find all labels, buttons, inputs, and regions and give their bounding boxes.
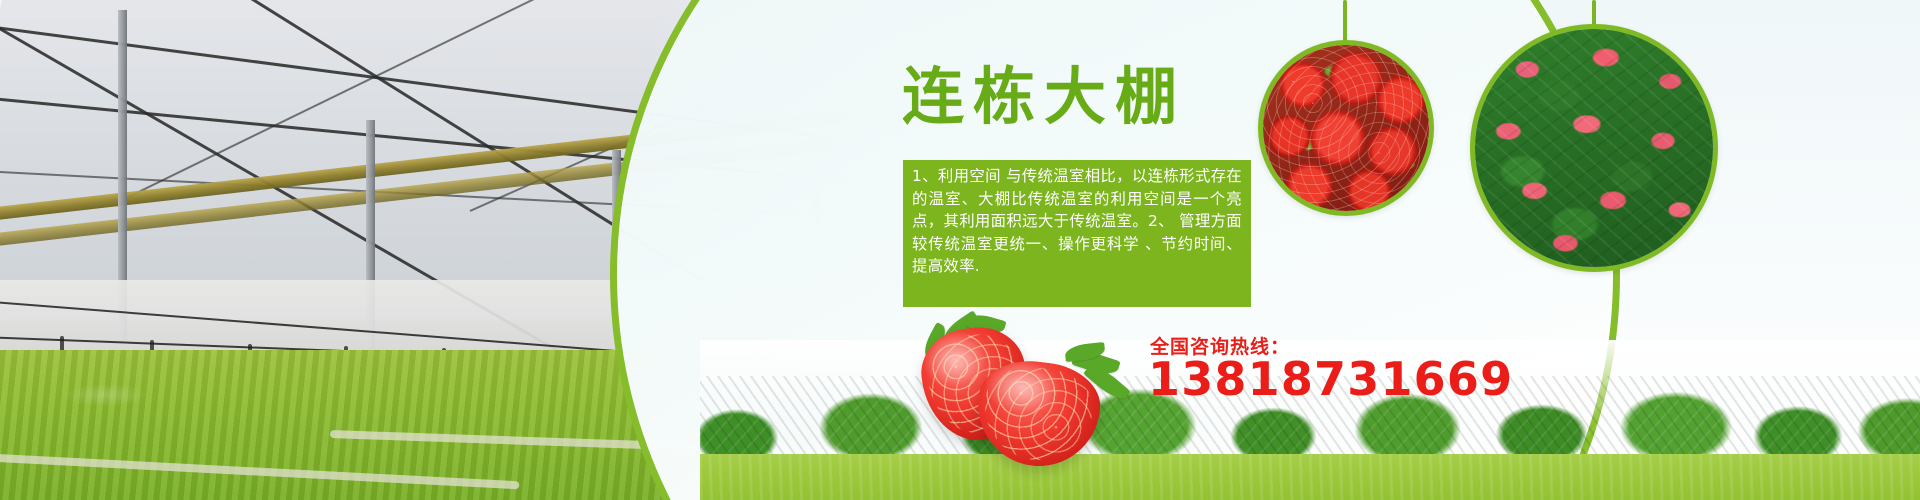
description-text: 1、利用空间 与传统温室相比，以连栋形式存在的温室、大棚比传统温室的利用空间是一… [912, 165, 1242, 278]
description-box: 1、利用空间 与传统温室相比，以连栋形式存在的温室、大棚比传统温室的利用空间是一… [903, 160, 1251, 307]
hanging-line-strawberries [1343, 0, 1347, 44]
strawberries-circle-photo [1258, 40, 1434, 216]
promotional-banner: 连栋大棚 1、利用空间 与传统温室相比，以连栋形式存在的温室、大棚比传统温室的利… [0, 0, 1920, 500]
anthurium-flowers-circle-photo [1470, 24, 1718, 272]
page-title: 连栋大棚 [902, 64, 1186, 129]
grass-field [700, 454, 1920, 500]
strawberries-image [1263, 45, 1429, 211]
hotline-number[interactable]: 13818731669 [1148, 356, 1513, 402]
strawberries-foreground-photo [915, 318, 1145, 468]
anthurium-flowers-image [1475, 29, 1713, 267]
